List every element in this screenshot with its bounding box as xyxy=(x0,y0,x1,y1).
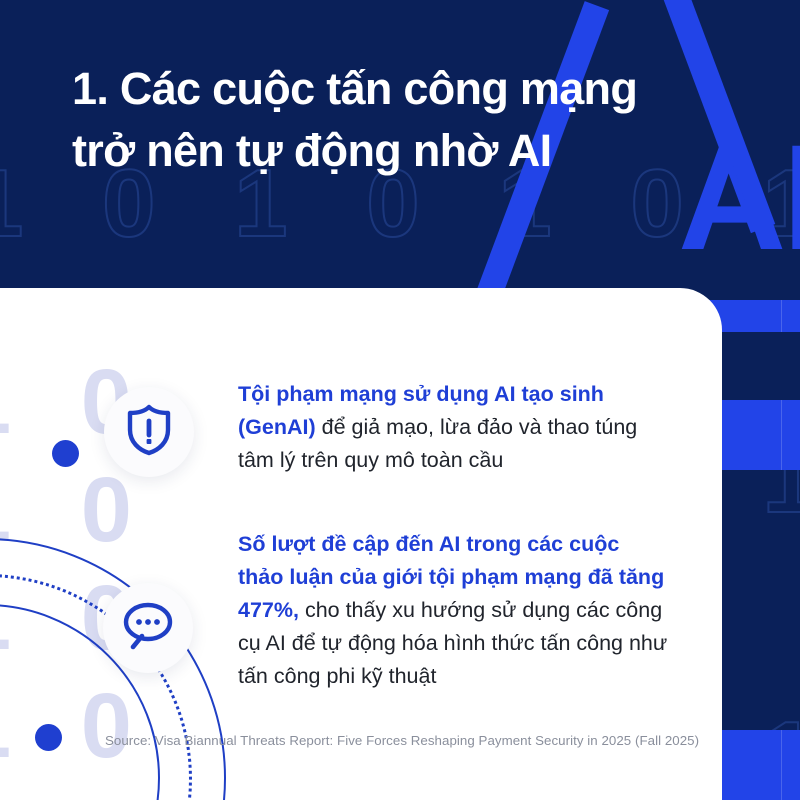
point-2-text: Số lượt đề cập đến AI trong các cuộc thả… xyxy=(238,528,668,693)
slide-canvas: 1 0 1 0 1 0 1 0 1 0 1 0 1 0 1 0 1 0 1 0 … xyxy=(0,0,800,800)
page-title: 1. Các cuộc tấn công mạng trở nên tự độn… xyxy=(72,58,672,182)
point-2-rest: cho thấy xu hướng sử dụng các công cụ AI… xyxy=(238,598,667,688)
chat-bubble-icon xyxy=(120,600,176,657)
content-card: 1 0 1 0 1 0 1 0 xyxy=(0,288,722,800)
shield-alert-icon xyxy=(123,403,175,462)
source-caption: Source: Visa Biannual Threats Report: Fi… xyxy=(105,733,699,748)
ring-node-dot xyxy=(35,724,62,751)
chat-bubble-icon-badge xyxy=(103,583,193,673)
shield-alert-icon-badge xyxy=(104,387,194,477)
point-1-text: Tội phạm mạng sử dụng AI tạo sinh (GenAI… xyxy=(238,378,668,477)
ring-node-dot xyxy=(52,440,79,467)
